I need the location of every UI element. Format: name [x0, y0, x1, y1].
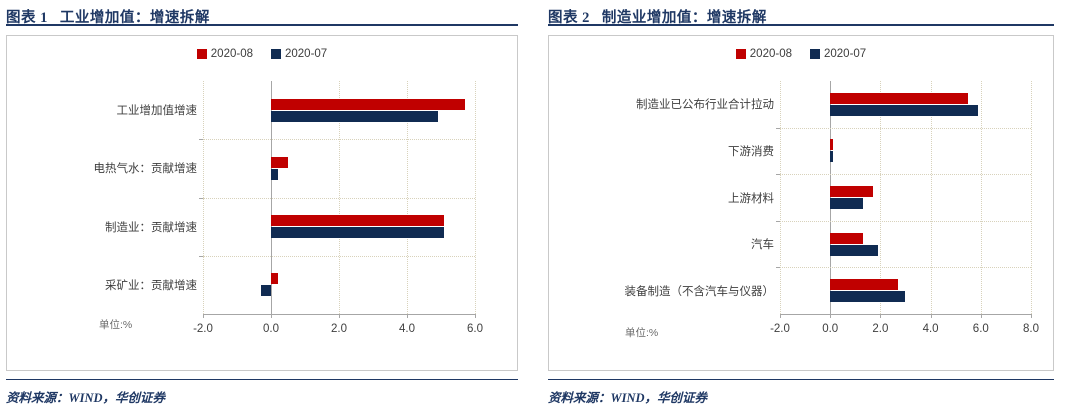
bar-2020-07-采矿业：贡献增速: [261, 285, 271, 296]
gridline-x-6.0: [981, 81, 983, 314]
figure-panel-1: 图表 1 工业增加值：增速拆解 2020-08 2020-07 -2.00.02…: [0, 0, 536, 412]
category-separator: [203, 139, 475, 140]
gridline-x--2.0: [780, 81, 782, 314]
bar-2020-07-汽车: [830, 245, 878, 256]
bar-2020-07-电热气水：贡献增速: [271, 169, 278, 180]
x-axis-label: 6.0: [973, 323, 989, 335]
figure-1-unit-label: 单位:%: [99, 317, 132, 332]
y-axis-category-label: 制造业已公布行业合计拉动: [636, 96, 774, 112]
figure-2-source: 资料来源：WIND，华创证券: [548, 380, 1054, 412]
bar-2020-08-电热气水：贡献增速: [271, 157, 288, 168]
bar-2020-08-工业增加值增速: [271, 99, 465, 110]
x-axis-label: 2.0: [331, 323, 347, 335]
bar-2020-08-上游材料: [830, 186, 873, 197]
figure-1-source: 资料来源：WIND，华创证券: [6, 380, 518, 412]
x-axis-label: 8.0: [1023, 323, 1039, 335]
x-axis-label: 2.0: [872, 323, 888, 335]
category-separator: [780, 267, 1031, 268]
bar-2020-08-采矿业：贡献增速: [271, 273, 278, 284]
figure-1-legend: 2020-08 2020-07: [7, 48, 517, 60]
figure-1-plot-area: -2.00.02.04.06.0工业增加值增速电热气水：贡献增速制造业：贡献增速…: [203, 81, 475, 314]
y-axis-category-label: 上游材料: [728, 190, 774, 206]
legend-label-2020-08: 2020-08: [211, 48, 253, 60]
legend-label-2020-07: 2020-07: [285, 48, 327, 60]
bar-2020-08-制造业：贡献增速: [271, 215, 444, 226]
figure-2-legend: 2020-08 2020-07: [549, 48, 1053, 60]
y-axis-category-label: 制造业：贡献增速: [105, 219, 197, 235]
x-tick-6.0: [475, 314, 476, 318]
bar-2020-07-下游消费: [830, 151, 833, 162]
figure-2-plot-area: -2.00.02.04.06.08.0制造业已公布行业合计拉动下游消费上游材料汽…: [780, 81, 1031, 314]
bar-2020-08-汽车: [830, 233, 863, 244]
gridline-x-6.0: [475, 81, 477, 314]
legend-label-2020-08: 2020-08: [750, 48, 792, 60]
y-tick: [199, 139, 203, 140]
bar-2020-07-制造业已公布行业合计拉动: [830, 105, 978, 116]
legend-swatch-2020-07: [271, 49, 281, 59]
x-axis-label: -2.0: [193, 323, 213, 335]
x-axis-label: 4.0: [399, 323, 415, 335]
x-axis-label: 0.0: [263, 323, 279, 335]
legend-item-2020-08[interactable]: 2020-08: [736, 48, 792, 60]
category-separator: [203, 256, 475, 257]
legend-item-2020-08[interactable]: 2020-08: [197, 48, 253, 60]
figure-2-unit-label: 单位:%: [625, 325, 658, 340]
y-tick: [199, 198, 203, 199]
bar-2020-07-制造业：贡献增速: [271, 227, 444, 238]
x-axis-line: [780, 314, 1031, 315]
legend-swatch-2020-07: [810, 49, 820, 59]
bar-2020-07-装备制造（不含汽车与仪器）: [830, 291, 905, 302]
figure-panel-2: 图表 2 制造业增加值：增速拆解 2020-08 2020-07 -2.00.0…: [536, 0, 1072, 412]
figure-2-plot: -2.00.02.04.06.08.0制造业已公布行业合计拉动下游消费上游材料汽…: [780, 81, 1031, 314]
x-axis-label: -2.0: [770, 323, 790, 335]
figure-1-top-rule: [6, 24, 518, 26]
y-axis-category-label: 汽车: [751, 236, 774, 252]
category-separator: [780, 174, 1031, 175]
figure-1-chart-frame: 2020-08 2020-07 -2.00.02.04.06.0工业增加值增速电…: [6, 35, 518, 371]
figure-2-top-rule: [548, 24, 1054, 26]
y-axis-category-label: 装备制造（不含汽车与仪器）: [625, 283, 775, 299]
category-separator: [780, 128, 1031, 129]
figure-1-plot: -2.00.02.04.06.0工业增加值增速电热气水：贡献增速制造业：贡献增速…: [203, 81, 475, 314]
y-tick: [776, 267, 780, 268]
legend-swatch-2020-08: [736, 49, 746, 59]
y-tick: [199, 256, 203, 257]
x-axis-label: 0.0: [822, 323, 838, 335]
y-axis-category-label: 电热气水：贡献增速: [94, 160, 198, 176]
bar-2020-08-装备制造（不含汽车与仪器）: [830, 279, 898, 290]
bar-2020-07-上游材料: [830, 198, 863, 209]
legend-item-2020-07[interactable]: 2020-07: [810, 48, 866, 60]
bar-2020-08-下游消费: [830, 139, 833, 150]
x-axis-line: [203, 314, 475, 315]
bar-2020-08-制造业已公布行业合计拉动: [830, 93, 968, 104]
bar-2020-07-工业增加值增速: [271, 111, 438, 122]
gridline-x-4.0: [931, 81, 933, 314]
report-figures-page: 图表 1 工业增加值：增速拆解 2020-08 2020-07 -2.00.02…: [0, 0, 1072, 412]
y-tick: [776, 174, 780, 175]
figure-2-chart-frame: 2020-08 2020-07 -2.00.02.04.06.08.0制造业已公…: [548, 35, 1054, 371]
legend-item-2020-07[interactable]: 2020-07: [271, 48, 327, 60]
x-tick-8.0: [1031, 314, 1032, 318]
figure-2-caption: 图表 2 制造业增加值：增速拆解: [548, 0, 1054, 24]
category-separator: [203, 198, 475, 199]
gridline-x-8.0: [1031, 81, 1033, 314]
legend-swatch-2020-08: [197, 49, 207, 59]
legend-label-2020-07: 2020-07: [824, 48, 866, 60]
figure-1-caption: 图表 1 工业增加值：增速拆解: [6, 0, 518, 24]
y-tick: [776, 128, 780, 129]
y-axis-category-label: 采矿业：贡献增速: [105, 277, 197, 293]
x-axis-label: 4.0: [923, 323, 939, 335]
y-axis-category-label: 工业增加值增速: [117, 102, 198, 118]
y-tick: [776, 221, 780, 222]
category-separator: [780, 221, 1031, 222]
y-axis-category-label: 下游消费: [728, 143, 774, 159]
x-axis-label: 6.0: [467, 323, 483, 335]
